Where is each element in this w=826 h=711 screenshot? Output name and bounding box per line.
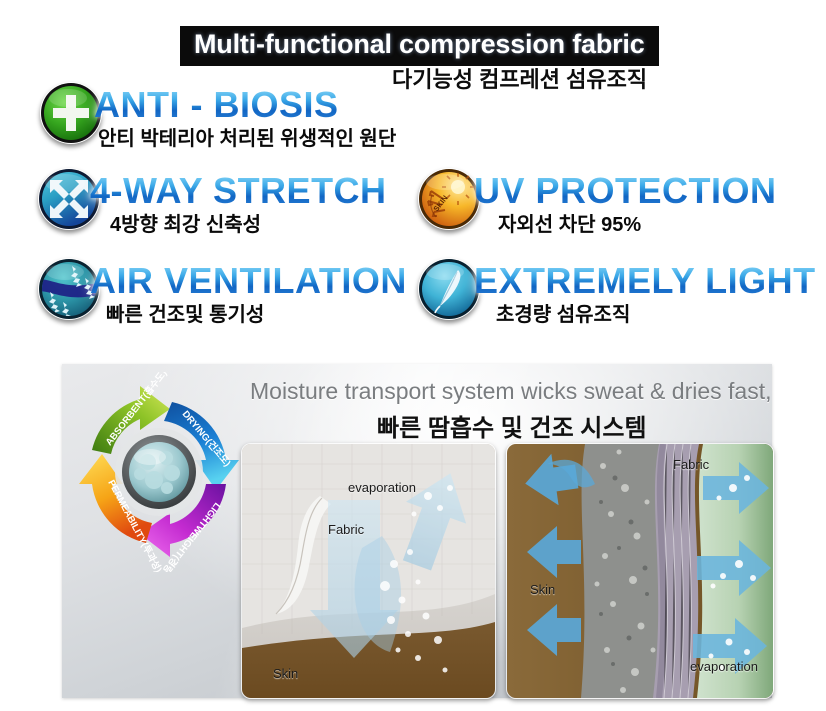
photo-label-fabric: Fabric: [673, 457, 709, 472]
feature-subtitle: 자외선 차단 95%: [498, 208, 641, 237]
feature-subtitle: 초경량 섬유조직: [496, 298, 630, 327]
feature-heading: EXTREMELY LIGHT: [474, 260, 816, 302]
feature-subtitle: 안티 박테리아 처리된 위생적인 원단: [98, 122, 396, 151]
feature-heading: UV PROTECTION: [474, 170, 777, 212]
moisture-cycle-diagram: ABSORBENT(흡수도) DRYING(건조도) LIGHTWEIGHT(경…: [66, 372, 251, 572]
panel-caption-english: Moisture transport system wicks sweat & …: [250, 378, 772, 405]
fabric-cross-section-photo: evaporation Fabric Skin: [241, 443, 496, 699]
page-title-korean: 다기능성 컴프레션 섬유조직: [392, 62, 647, 94]
poster-root: Multi-functional compression fabric 다기능성…: [0, 0, 826, 711]
panel-caption-korean: 빠른 땀흡수 및 건조 시스템: [377, 408, 647, 443]
page-title: Multi-functional compression fabric: [194, 29, 645, 60]
feature-subtitle: 4방향 최강 신축성: [110, 208, 261, 237]
sun-skin-icon: SKIN: [418, 168, 480, 230]
photo-label-skin: Skin: [273, 666, 298, 681]
photo-label-evaporation: evaporation: [348, 480, 416, 495]
photo-label-skin: Skin: [530, 582, 555, 597]
photo-label-evaporation: evaporation: [690, 659, 758, 674]
feather-icon: [418, 258, 480, 320]
feature-heading: ANTI - BIOSIS: [94, 84, 339, 126]
plus-circle-icon: [40, 82, 102, 144]
feature-heading: 4-WAY STRETCH: [90, 170, 387, 212]
title-banner: Multi-functional compression fabric: [180, 26, 659, 66]
feature-heading: AIR VENTILATION: [90, 260, 407, 302]
fabric-layers-photo: Fabric Skin evaporation: [506, 443, 774, 699]
photo-label-fabric: Fabric: [328, 522, 364, 537]
feature-subtitle: 빠른 건조및 통기성: [106, 298, 264, 327]
